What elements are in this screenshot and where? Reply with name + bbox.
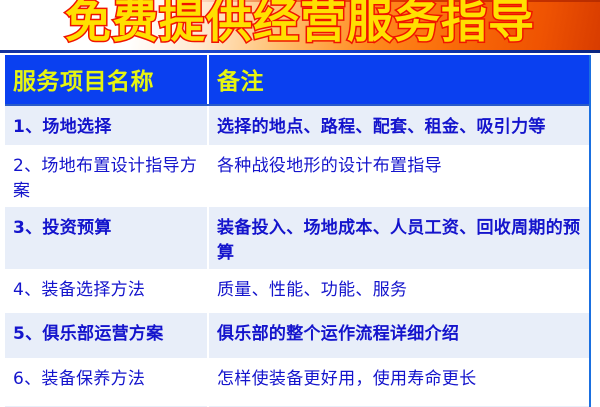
services-table: 服务项目名称 备注 1、场地选择 选择的地点、路程、配套、租金、吸引力等 2、场…: [5, 55, 589, 407]
banner-divider-rule: [0, 50, 600, 53]
cell-remark: 俱乐部的整个运作流程详细介绍: [208, 313, 589, 358]
cell-service-name: 1、场地选择: [5, 105, 208, 145]
cell-service-name: 6、装备保养方法: [5, 358, 208, 406]
table-body: 1、场地选择 选择的地点、路程、配套、租金、吸引力等 2、场地布置设计指导方案 …: [5, 105, 589, 407]
table-header: 服务项目名称 备注: [5, 55, 589, 105]
table-row: 2、场地布置设计指导方案 各种战役地形的设计布置指导: [5, 145, 589, 207]
cell-remark: 怎样使装备更好用，使用寿命更长: [208, 358, 589, 406]
column-header-service-name: 服务项目名称: [5, 55, 208, 105]
table-row: 3、投资预算 装备投入、场地成本、人员工资、回收周期的预算: [5, 207, 589, 269]
slide-canvas: 免费提供经营服务指导 服务项目名称 备注 1、场地选择 选择的地点、路程、配套、…: [0, 0, 600, 407]
table-header-row: 服务项目名称 备注: [5, 55, 589, 105]
page-title: 免费提供经营服务指导: [0, 0, 600, 49]
table-row: 4、装备选择方法 质量、性能、功能、服务: [5, 269, 589, 313]
cell-service-name: 4、装备选择方法: [5, 269, 208, 313]
cell-service-name: 3、投资预算: [5, 207, 208, 269]
cell-service-name: 2、场地布置设计指导方案: [5, 145, 208, 207]
services-table-container: 服务项目名称 备注 1、场地选择 选择的地点、路程、配套、租金、吸引力等 2、场…: [5, 55, 591, 407]
table-row: 6、装备保养方法 怎样使装备更好用，使用寿命更长: [5, 358, 589, 406]
cell-remark: 选择的地点、路程、配套、租金、吸引力等: [208, 105, 589, 145]
table-row: 1、场地选择 选择的地点、路程、配套、租金、吸引力等: [5, 105, 589, 145]
cell-remark: 质量、性能、功能、服务: [208, 269, 589, 313]
cell-remark: 装备投入、场地成本、人员工资、回收周期的预算: [208, 207, 589, 269]
title-banner: 免费提供经营服务指导: [0, 0, 600, 53]
table-row: 5、俱乐部运营方案 俱乐部的整个运作流程详细介绍: [5, 313, 589, 358]
column-header-remark: 备注: [208, 55, 589, 105]
cell-remark: 各种战役地形的设计布置指导: [208, 145, 589, 207]
cell-service-name: 5、俱乐部运营方案: [5, 313, 208, 358]
